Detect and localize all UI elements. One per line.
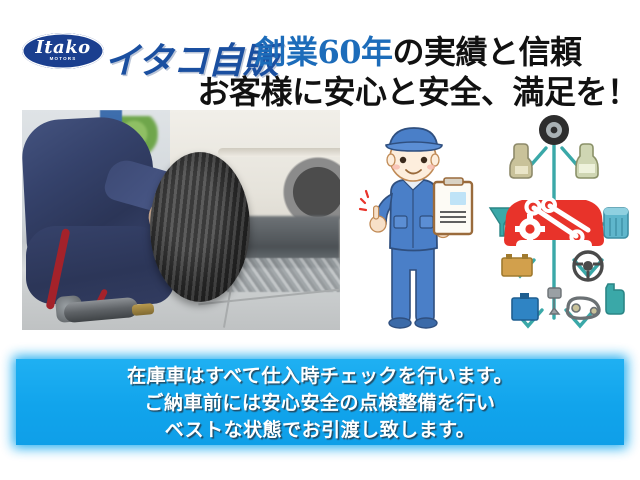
bottom-message-banner: 在庫車はすべて仕入時チェックを行います。 ご納車前には安心安全の点検整備を行い …: [8, 351, 632, 453]
mechanic-tire-photo: [22, 110, 340, 330]
headline-years-highlight: 創業60年: [254, 33, 392, 71]
fluid-can-icon: [512, 298, 538, 320]
mechanic-ear-right: [431, 154, 439, 166]
logo-script-text: Itako: [22, 38, 104, 57]
battery-terminal-right: [522, 254, 528, 259]
filter-cap: [604, 208, 628, 215]
battery-icon: [502, 258, 532, 276]
tire-hub: [551, 127, 558, 134]
mechanic-eye-right: [421, 157, 427, 163]
photo-tire: [150, 152, 250, 302]
advertisement-banner: Itako MOTORS イタコ自販 創業60年の実績と信頼 お客様に安心と安全…: [0, 0, 640, 480]
clipboard-highlight-box: [450, 192, 466, 205]
coolant-label: [579, 164, 595, 173]
piston-rod: [550, 298, 559, 314]
mechanic-svg: [358, 120, 474, 330]
battery-terminal-left: [506, 254, 512, 259]
steering-wheel-hub: [583, 261, 593, 271]
mechanic-blush-left: [392, 164, 400, 169]
mechanic-cap-brim: [386, 142, 442, 151]
car-parts-infographic: [470, 112, 638, 332]
mechanic-ear-left: [387, 154, 395, 166]
pump-icon: [606, 284, 624, 314]
mechanic-pocket-left: [394, 216, 407, 228]
piston-icon: [548, 288, 561, 298]
fluid-can-spout: [520, 293, 529, 299]
mechanic-legs: [392, 246, 434, 322]
belt-pulley-right: [591, 308, 598, 315]
photo-impact-wrench-tip: [132, 303, 155, 316]
banner-text-block: 在庫車はすべて仕入時チェックを行います。 ご納車前には安心安全の点検整備を行い …: [16, 357, 624, 449]
mechanic-finger-shape: [374, 206, 379, 219]
logo-sub-text: MOTORS: [22, 56, 104, 61]
headline-line-1-rest: の実績と信頼: [393, 33, 582, 71]
headline-line-2: お客様に安心と安全、満足を！: [196, 72, 640, 112]
mechanic-eye-left: [400, 157, 406, 163]
oil-can-label: [515, 166, 528, 174]
banner-line-3: ベストな状態でお引渡し致します。: [165, 417, 475, 444]
itako-motors-logo: Itako MOTORS: [22, 33, 104, 69]
sparkle-icon: [360, 191, 368, 210]
banner-line-2: ご納車前には安心安全の点検整備を行い: [144, 390, 495, 417]
mechanic-blush-right: [427, 164, 435, 169]
belt-pulley-left: [572, 304, 580, 312]
clipboard-icon: [434, 182, 472, 234]
mechanic-illustration: [358, 120, 474, 330]
banner-line-1: 在庫車はすべて仕入時チェックを行います。: [127, 363, 513, 390]
mechanic-shoe-right: [415, 318, 437, 328]
mechanic-shoe-left: [389, 318, 411, 328]
mechanic-pocket-right: [420, 216, 433, 228]
headline-block: 創業60年の実績と信頼 お客様に安心と安全、満足を！: [196, 32, 640, 112]
infographic-svg: [470, 112, 638, 332]
headline-line-1: 創業60年の実績と信頼: [196, 32, 640, 72]
clipboard-clip-icon: [444, 178, 463, 185]
